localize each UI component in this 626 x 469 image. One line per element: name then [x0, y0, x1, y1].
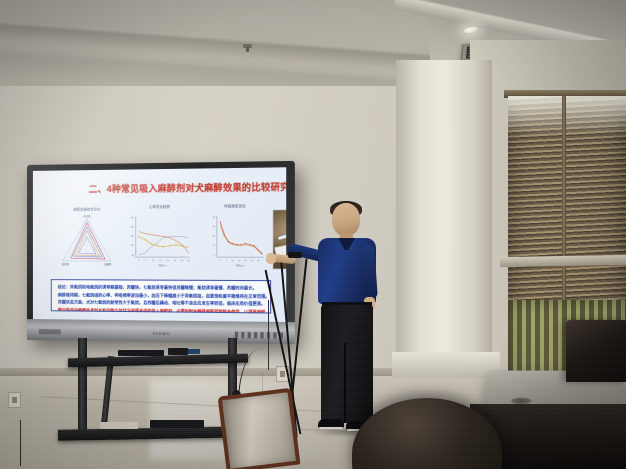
audience-chair[interactable] — [218, 388, 301, 469]
wall-power-outlet[interactable] — [8, 392, 21, 408]
svg-text:160: 160 — [131, 217, 135, 219]
svg-text:时间/min: 时间/min — [159, 263, 167, 267]
respiration-line-chart: 呼吸频率变化 40 30 20 10 0 05 10 — [202, 211, 268, 269]
breathing-tube — [278, 229, 286, 240]
heart-rate-chart-svg: 160 140 120 100 80 05 1015 2025 3040 — [125, 212, 193, 270]
svg-text:20: 20 — [213, 235, 216, 237]
slide-title: 二、4种常见吸入麻醉剂对犬麻醉效果的比较研究 — [89, 180, 276, 195]
svg-text:诱导期: 诱导期 — [83, 214, 91, 218]
stand-equipment-indicator — [186, 349, 200, 354]
svg-text:10: 10 — [232, 260, 234, 262]
presenter — [306, 203, 392, 443]
svg-text:0: 0 — [214, 255, 216, 257]
svg-text:15: 15 — [238, 260, 240, 262]
svg-text:40: 40 — [213, 217, 216, 219]
radar-chart-caption: 麻醉效果综合评价 — [59, 206, 115, 211]
svg-text:维持期: 维持期 — [62, 262, 70, 266]
stand-lower-equipment[interactable] — [150, 420, 204, 428]
leather-office-chair[interactable] — [566, 320, 626, 382]
fire-sprinkler-icon — [243, 44, 252, 48]
presenter-trouser-seam — [344, 343, 346, 423]
svg-text:0: 0 — [219, 260, 220, 262]
smart-display[interactable]: 二、4种常见吸入麻醉剂对犬麻醉效果的比较研究 麻醉效果综合评价 — [27, 161, 295, 344]
svg-text:25: 25 — [174, 260, 176, 262]
svg-text:120: 120 — [131, 236, 135, 238]
svg-text:5: 5 — [145, 260, 146, 262]
heart-rate-chart-caption: 心率变化趋势 — [125, 204, 193, 210]
stand-paper — [100, 422, 138, 429]
svg-text:10: 10 — [152, 260, 154, 262]
shoe-sole — [319, 427, 343, 429]
svg-text:15: 15 — [159, 260, 161, 262]
presenter-head — [332, 203, 360, 236]
conclusion-line: 建议临床中根据手术时长和动物个体状况选择合适的吸入麻醉剂，必要时配合静脉麻醉药物… — [58, 306, 264, 314]
blinds-sunlight-glow — [508, 96, 626, 136]
room-photo-scene: 二、4种常见吸入麻醉剂对犬麻醉效果的比较研究 麻醉效果综合评价 — [0, 0, 626, 469]
svg-text:30: 30 — [257, 260, 259, 262]
svg-text:苏醒期: 苏醒期 — [104, 262, 112, 266]
radar-chart: 麻醉效果综合评价 — [59, 214, 115, 267]
display-brand-mark: SEEWO — [152, 331, 170, 336]
svg-text:10: 10 — [213, 245, 216, 247]
svg-text:时间/min: 时间/min — [236, 263, 244, 267]
chair-backrest — [218, 388, 301, 469]
respiration-chart-caption: 呼吸频率变化 — [202, 203, 268, 209]
radar-chart-svg: 诱导期 苏醒期 维持期 — [59, 214, 115, 267]
svg-text:80: 80 — [132, 255, 135, 257]
heart-rate-line-chart: 心率变化趋势 160 140 120 100 80 05 — [125, 212, 193, 270]
display-screen[interactable]: 二、4种常见吸入麻醉剂对犬麻醉效果的比较研究 麻醉效果综合评价 — [33, 167, 286, 322]
stand-equipment[interactable] — [118, 350, 164, 356]
display-bottom-bezel: SEEWO — [27, 319, 295, 344]
presenter-trousers — [321, 305, 373, 423]
respiration-chart-svg: 40 30 20 10 0 05 1015 2025 30 时间/min — [202, 211, 268, 269]
display-badge — [39, 329, 61, 334]
svg-text:30: 30 — [213, 226, 216, 228]
svg-text:20: 20 — [167, 260, 169, 262]
svg-text:30: 30 — [181, 260, 183, 262]
svg-text:100: 100 — [131, 245, 135, 247]
tripod-head[interactable] — [288, 252, 302, 258]
stand-equipment[interactable] — [168, 348, 188, 355]
svg-text:20: 20 — [244, 260, 246, 262]
svg-text:140: 140 — [131, 227, 135, 229]
svg-text:0: 0 — [138, 260, 139, 262]
conclusion-text-box: 结论：异氟烷和地氟烷的诱导期最短，苏醒快，七氟烷诱导最快但苏醒略慢；氟烷诱导最慢… — [51, 279, 271, 313]
svg-text:40: 40 — [187, 260, 189, 262]
svg-text:25: 25 — [251, 260, 253, 262]
column-base — [392, 352, 500, 378]
svg-text:5: 5 — [226, 260, 227, 262]
presentation-slide: 二、4种常见吸入麻醉剂对犬麻醉效果的比较研究 麻醉效果综合评价 — [33, 167, 286, 322]
